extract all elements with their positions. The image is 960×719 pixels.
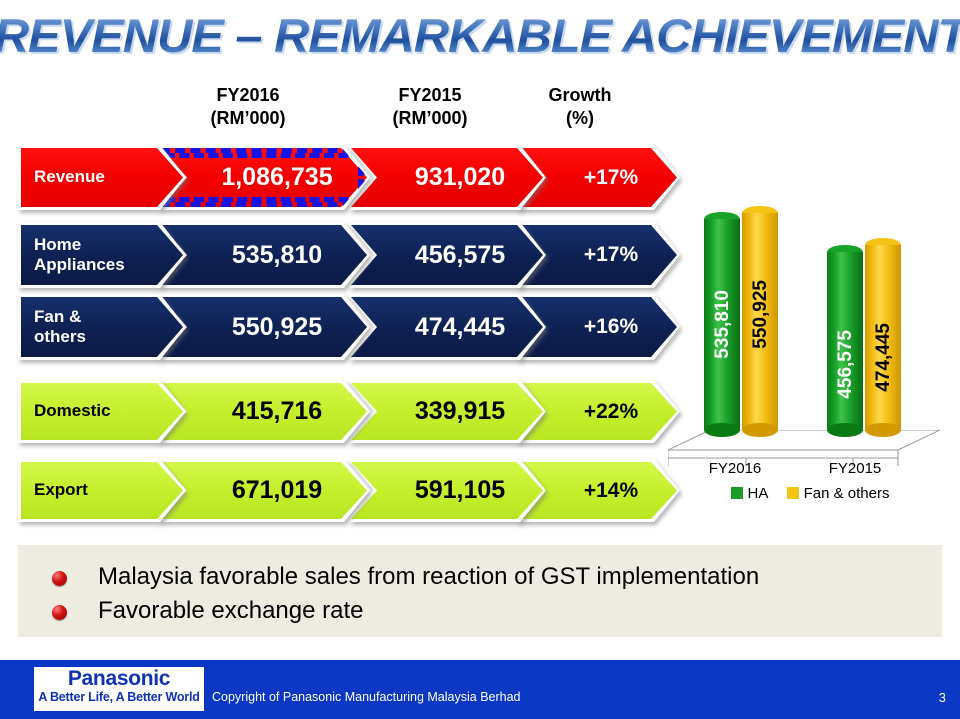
table-row: Domestic415,716339,915+22% <box>0 380 700 443</box>
cell-fy2016: 535,810 <box>158 222 370 288</box>
column-header-fy2015: FY2015 (RM’000) <box>355 84 505 129</box>
cell-fy2015-text: 591,105 <box>348 476 546 505</box>
row-label: HomeAppliances <box>18 222 186 288</box>
panasonic-logo: Panasonic A Better Life, A Better World <box>34 667 204 711</box>
legend-label-ha: HA <box>748 485 769 502</box>
cell-fy2016: 1,086,735 <box>158 145 370 210</box>
page-number: 3 <box>939 690 946 705</box>
cell-fy2016-text: 415,716 <box>158 397 370 426</box>
cell-fy2015-text: 339,915 <box>348 397 546 426</box>
column-header-growth-line1: Growth <box>515 84 645 107</box>
bullet-text: Malaysia favorable sales from reaction o… <box>98 563 759 591</box>
row-label: Revenue <box>18 145 186 210</box>
bar-label-fan-fy2016: 550,925 <box>750 280 772 349</box>
cell-fy2016-text: 1,086,735 <box>158 163 370 192</box>
cell-fy2016: 550,925 <box>158 294 370 360</box>
logo-wordmark: Panasonic <box>34 668 204 690</box>
bullet-dot-icon <box>52 571 67 586</box>
cell-fy2015: 474,445 <box>348 294 546 360</box>
table-row: Fan &others550,925474,445+16% <box>0 294 700 360</box>
slide: REVENUE – REMARKABLE ACHIEVEMENT REVENUE… <box>0 0 960 719</box>
row-label: Fan &others <box>18 294 186 360</box>
legend-swatch-green-icon <box>731 487 743 499</box>
chart-legend: HA Fan & others <box>660 485 960 502</box>
row-label-text: Fan &others <box>18 307 186 347</box>
bar-label-ha-fy2016: 535,810 <box>712 290 734 359</box>
bar-chart: 535,810 550,925 456,575 474,445 FY2016 F… <box>660 85 960 535</box>
column-header-growth-line2: (%) <box>515 107 645 130</box>
copyright-text: Copyright of Panasonic Manufacturing Mal… <box>212 690 521 704</box>
slide-footer: Panasonic A Better Life, A Better World … <box>0 660 960 719</box>
legend-swatch-yellow-icon <box>787 487 799 499</box>
row-label-text: Revenue <box>18 167 186 187</box>
column-header-fy2016: FY2016 (RM’000) <box>173 84 323 129</box>
bar-bottom <box>742 423 778 437</box>
cell-fy2015: 931,020 <box>348 145 546 210</box>
commentary-box: Malaysia favorable sales from reaction o… <box>18 545 942 637</box>
row-label: Domestic <box>18 380 186 443</box>
cell-fy2016-text: 671,019 <box>158 476 370 505</box>
legend-item-ha: HA <box>731 485 769 502</box>
x-axis-label-fy2016: FY2016 <box>670 460 800 477</box>
x-axis-label-fy2015: FY2015 <box>790 460 920 477</box>
bar-bottom <box>704 423 740 437</box>
cell-fy2015-text: 456,575 <box>348 241 546 270</box>
bar-bottom <box>865 423 901 437</box>
legend-item-fan: Fan & others <box>787 485 890 502</box>
cell-fy2015-text: 474,445 <box>348 313 546 342</box>
column-header-fy2015-line2: (RM’000) <box>355 107 505 130</box>
bullet-text: Favorable exchange rate <box>98 597 364 625</box>
column-header-fy2016-line2: (RM’000) <box>173 107 323 130</box>
row-label-text: Domestic <box>18 401 186 421</box>
cell-fy2016: 671,019 <box>158 459 370 522</box>
column-header-fy2015-line1: FY2015 <box>355 84 505 107</box>
legend-label-fan: Fan & others <box>804 485 890 502</box>
slide-title: REVENUE – REMARKABLE ACHIEVEMENT <box>0 8 960 70</box>
table-row: HomeAppliances535,810456,575+17% <box>0 222 700 288</box>
row-label-text: HomeAppliances <box>18 235 186 275</box>
logo-tagline: A Better Life, A Better World <box>34 690 204 705</box>
cell-fy2015-text: 931,020 <box>348 163 546 192</box>
bar-label-ha-fy2015: 456,575 <box>835 330 857 399</box>
table-row: Revenue1,086,735931,020+17% <box>0 145 700 210</box>
cell-fy2015: 591,105 <box>348 459 546 522</box>
row-label: Export <box>18 459 186 522</box>
bar-bottom <box>827 423 863 437</box>
cell-fy2016: 415,716 <box>158 380 370 443</box>
bar-label-fan-fy2015: 474,445 <box>873 323 895 392</box>
cell-fy2015: 339,915 <box>348 380 546 443</box>
cell-fy2016-text: 535,810 <box>158 241 370 270</box>
column-header-growth: Growth (%) <box>515 84 645 129</box>
cell-fy2016-text: 550,925 <box>158 313 370 342</box>
column-header-fy2016-line1: FY2016 <box>173 84 323 107</box>
table-row: Export671,019591,105+14% <box>0 459 700 522</box>
cell-fy2015: 456,575 <box>348 222 546 288</box>
bullet-dot-icon <box>52 605 67 620</box>
row-label-text: Export <box>18 480 186 500</box>
